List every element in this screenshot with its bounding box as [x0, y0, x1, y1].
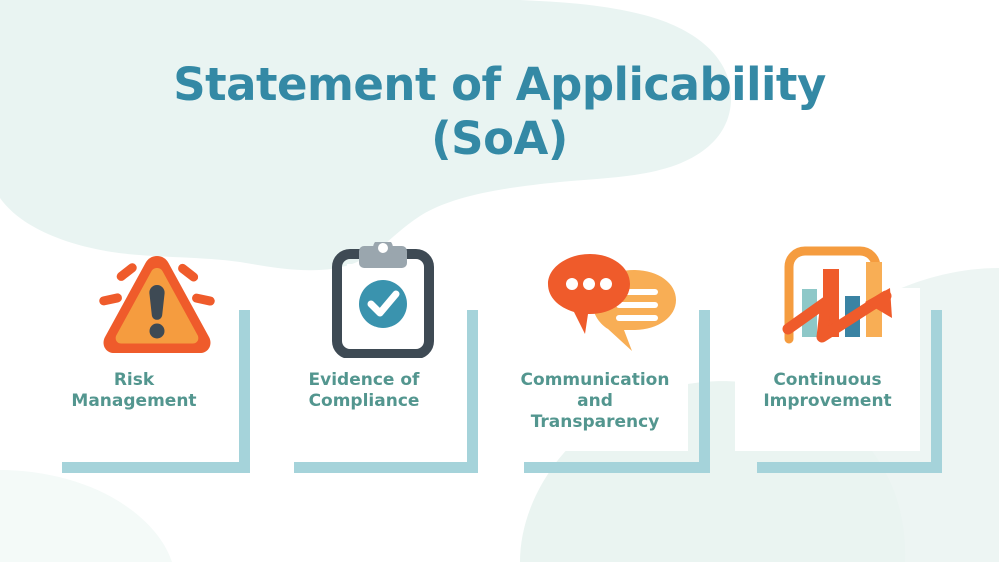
exclamation-dot	[150, 324, 165, 339]
frame-horizontal-bar	[524, 462, 710, 473]
clipboard-clip-ring-inner	[378, 243, 388, 253]
frame-vertical-bar	[239, 310, 250, 473]
speech-bubble-front-dots	[566, 278, 612, 290]
clipboard-check-icon	[331, 242, 435, 358]
card-label: Communication and Transparency	[502, 370, 688, 433]
blob-bottom-left	[0, 470, 172, 562]
check-circle	[359, 280, 407, 328]
speech-bubbles-icon	[546, 252, 678, 353]
growth-chart-icon	[782, 244, 900, 355]
page-title-line-2: (SoA)	[0, 112, 999, 166]
frame-horizontal-bar	[62, 462, 250, 473]
frame-vertical-bar	[699, 310, 710, 473]
card-label: Continuous Improvement	[735, 370, 920, 412]
frame-horizontal-bar	[294, 462, 478, 473]
frame-vertical-bar	[931, 310, 942, 473]
page-title-line-1: Statement of Applicability	[0, 58, 999, 112]
warning-triangle-icon	[92, 248, 222, 354]
card-label: Risk Management	[40, 370, 228, 412]
frame-vertical-bar	[467, 310, 478, 473]
frame-horizontal-bar	[757, 462, 942, 473]
page-title: Statement of Applicability (SoA)	[0, 58, 999, 166]
card-label: Evidence of Compliance	[272, 370, 456, 412]
slide-canvas: Statement of Applicability (SoA) Risk Ma…	[0, 0, 999, 562]
